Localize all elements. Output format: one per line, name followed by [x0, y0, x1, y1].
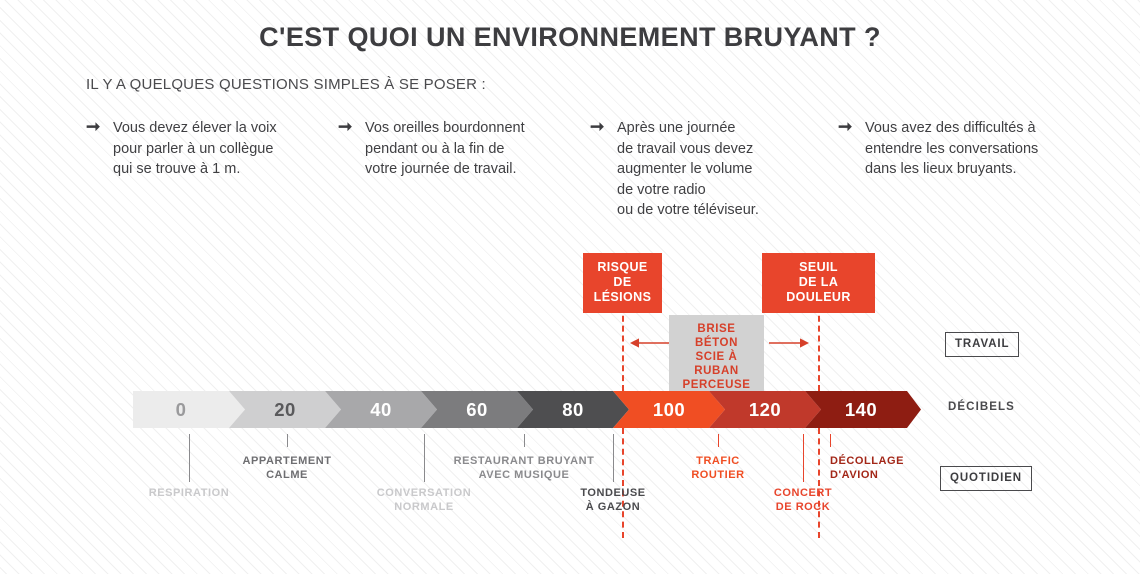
source-conversation-normale: CONVERSATION NORMALE	[364, 487, 484, 514]
source-line: À GAZON	[553, 501, 673, 515]
toolbox-line: SCIE À RUBAN	[678, 350, 755, 378]
arrow-right-icon: ➞	[590, 117, 610, 137]
question-line: ou de votre téléviseur.	[617, 200, 759, 221]
tick-restaurant-bruyant	[524, 434, 525, 447]
source-tondeuse-a-gazon: TONDEUSE À GAZON	[553, 487, 673, 514]
question-text-2: Vos oreilles bourdonnent pendant ou à la…	[365, 118, 525, 180]
tick-concert-de-rock	[803, 434, 804, 482]
pain-threshold-badge: SEUIL DE LA DOULEUR	[762, 253, 875, 313]
question-line: de votre radio	[617, 180, 759, 201]
toolbox-line: BRISE BÉTON	[678, 322, 755, 350]
source-line: TONDEUSE	[553, 487, 673, 501]
question-line: Vos oreilles bourdonnent	[365, 118, 525, 139]
source-line: CALME	[227, 469, 347, 483]
question-line: entendre les conversations	[865, 139, 1038, 160]
pain-guide-line-lower	[818, 428, 820, 538]
source-line: CONVERSATION	[364, 487, 484, 501]
question-line: votre journée de travail.	[365, 159, 525, 180]
tick-trafic-routier	[718, 434, 719, 447]
source-line: RESTAURANT BRUYANT	[444, 455, 604, 469]
question-line: pendant ou à la fin de	[365, 139, 525, 160]
scale-tick-label: 120	[717, 391, 813, 428]
source-line: ROUTIER	[658, 469, 778, 483]
tick-tondeuse-a-gazon	[613, 434, 614, 482]
source-trafic-routier: TRAFIC ROUTIER	[658, 455, 778, 482]
question-line: Après une journée	[617, 118, 759, 139]
arrow-right-icon	[769, 336, 809, 350]
category-box-quotidien: QUOTIDIEN	[940, 466, 1032, 491]
tick-decollage-avion	[830, 434, 831, 447]
question-item-1: ➞ Vous devez élever la voix pour parler …	[86, 118, 336, 180]
scale-tick-label: 20	[237, 391, 333, 428]
question-line: pour parler à un collègue	[113, 139, 277, 160]
scale-tick-label: 100	[621, 391, 717, 428]
arrow-right-icon: ➞	[86, 117, 106, 137]
risk-badge: RISQUE DE LÉSIONS	[583, 253, 662, 313]
badge-line: DE LÉSIONS	[593, 275, 652, 305]
subtitle-text: IL Y A QUELQUES QUESTIONS SIMPLES À SE P…	[86, 76, 486, 93]
question-line: Vous avez des difficultés à	[865, 118, 1038, 139]
arrow-right-icon: ➞	[338, 117, 358, 137]
source-line: NORMALE	[364, 501, 484, 515]
tick-appartement-calme	[287, 434, 288, 447]
axis-label-decibels: DÉCIBELS	[948, 401, 1015, 413]
risk-guide-line-lower	[622, 428, 624, 538]
badge-line: SEUIL	[772, 260, 865, 275]
question-line: augmenter le volume	[617, 159, 759, 180]
source-line: AVEC MUSIQUE	[444, 469, 604, 483]
infographic-canvas: C'EST QUOI UN ENVIRONNEMENT BRUYANT ? IL…	[0, 0, 1140, 574]
question-text-4: Vous avez des difficultés à entendre les…	[865, 118, 1038, 180]
tick-respiration	[189, 434, 190, 482]
question-item-4: ➞ Vous avez des difficultés à entendre l…	[838, 118, 1078, 180]
source-line: TRAFIC	[658, 455, 778, 469]
source-line: CONCERT	[743, 487, 863, 501]
source-concert-de-rock: CONCERT DE ROCK	[743, 487, 863, 514]
scale-tick-label: 60	[429, 391, 525, 428]
question-item-3: ➞ Après une journée de travail vous deve…	[590, 118, 840, 221]
category-box-travail: TRAVAIL	[945, 332, 1019, 357]
arrow-right-icon: ➞	[838, 117, 858, 137]
tick-conversation-normale	[424, 434, 425, 482]
question-text-1: Vous devez élever la voix pour parler à …	[113, 118, 277, 180]
source-line: RESPIRATION	[129, 487, 249, 501]
badge-line: RISQUE	[593, 260, 652, 275]
source-respiration: RESPIRATION	[129, 487, 249, 501]
scale-tick-label: 140	[813, 391, 909, 428]
tool-noise-box: BRISE BÉTON SCIE À RUBAN PERCEUSE	[669, 315, 764, 400]
question-line: Vous devez élever la voix	[113, 118, 277, 139]
question-line: de travail vous devez	[617, 139, 759, 160]
page-title: C'EST QUOI UN ENVIRONNEMENT BRUYANT ?	[0, 22, 1140, 53]
badge-line: DE LA DOULEUR	[772, 275, 865, 305]
source-restaurant-bruyant: RESTAURANT BRUYANT AVEC MUSIQUE	[444, 455, 604, 482]
source-line: DE ROCK	[743, 501, 863, 515]
scale-tick-label: 40	[333, 391, 429, 428]
scale-tick-label: 80	[525, 391, 621, 428]
question-item-2: ➞ Vos oreilles bourdonnent pendant ou à …	[338, 118, 588, 180]
source-appartement-calme: APPARTEMENT CALME	[227, 455, 347, 482]
question-text-3: Après une journée de travail vous devez …	[617, 118, 759, 221]
question-line: dans les lieux bruyants.	[865, 159, 1038, 180]
arrow-left-icon	[630, 336, 670, 350]
toolbox-line: PERCEUSE	[678, 378, 755, 392]
source-line: APPARTEMENT	[227, 455, 347, 469]
question-line: qui se trouve à 1 m.	[113, 159, 277, 180]
scale-tick-label: 0	[133, 391, 229, 428]
